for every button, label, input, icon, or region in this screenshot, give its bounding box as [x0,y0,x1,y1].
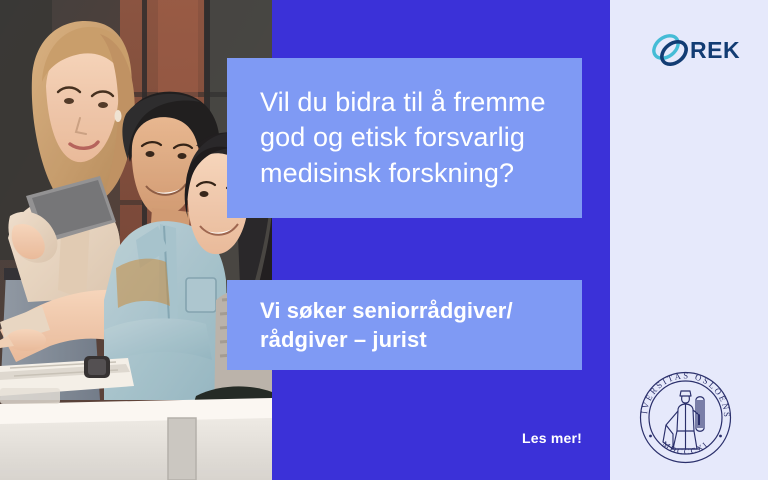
job-title-line-2: rådgiver – jurist [260,325,513,354]
recruitment-banner: REK UNIVERSITAS OSLOENSIS MDCCCXI [0,0,768,480]
read-more-link[interactable]: Les mer! [380,430,582,446]
headline-box: Vil du bidra til å fremme god og etisk f… [227,58,582,218]
job-title-box: Vi søker seniorrådgiver/ rådgiver – juri… [227,280,582,370]
rek-wordmark: REK [690,39,740,62]
headline-text: Vil du bidra til å fremme god og etisk f… [227,85,546,190]
rek-rings-icon [650,27,692,73]
rek-logo: REK [650,26,740,74]
job-title-text: Vi søker seniorrådgiver/ rådgiver – juri… [227,296,513,355]
headline-line-2: god og etisk forsvarlig [260,120,546,155]
headline-line-3: medisinsk forskning? [260,156,546,191]
job-title-line-1: Vi søker seniorrådgiver/ [260,296,513,325]
uio-seal: UNIVERSITAS OSLOENSIS MDCCCXI [633,365,738,470]
headline-line-1: Vil du bidra til å fremme [260,85,546,120]
